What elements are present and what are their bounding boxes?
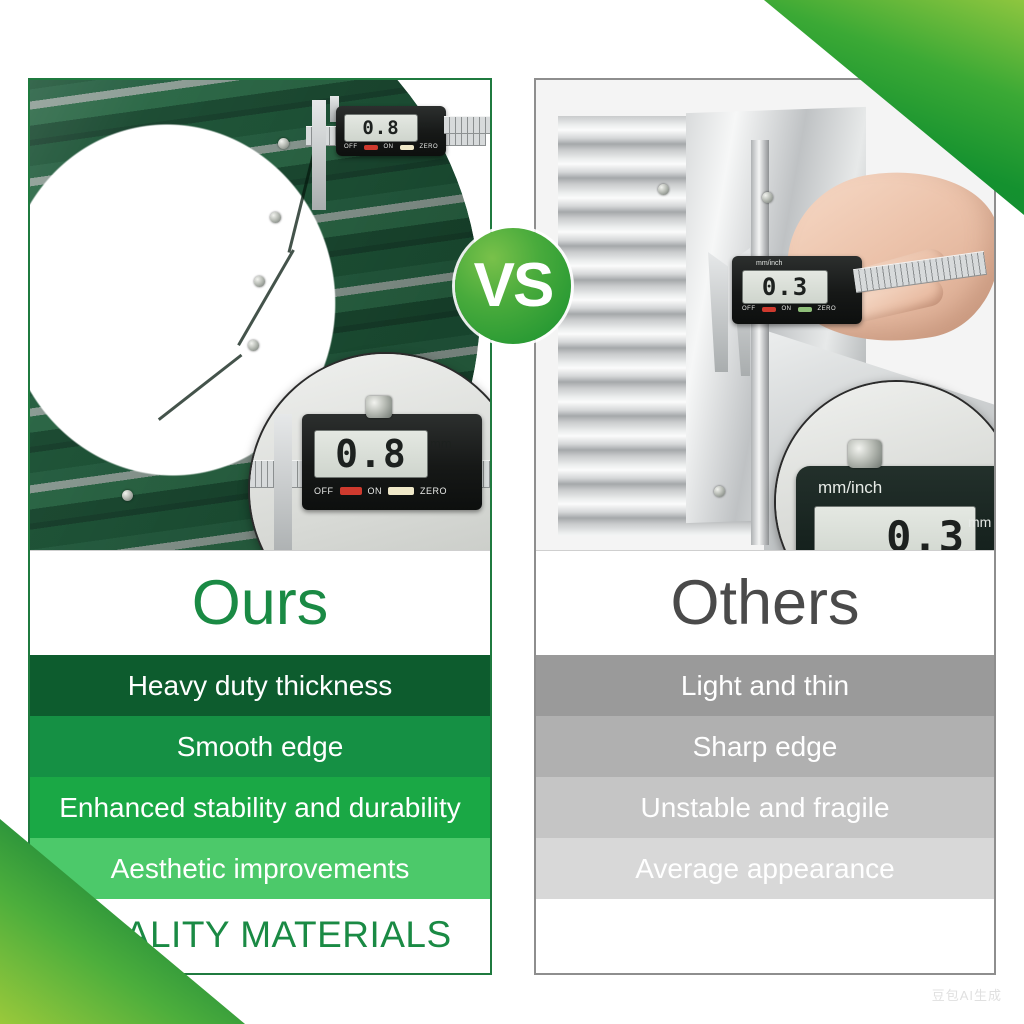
bubble-caliper-buttons: OFF ON ZERO [314, 486, 447, 496]
bolt [254, 276, 265, 287]
caliper-zero-label: ZERO [818, 306, 837, 312]
feature-rows-others: Light and thin Sharp edge Unstable and f… [536, 655, 994, 899]
bubble-thumbwheel [848, 440, 882, 468]
bubble-thumbwheel [366, 396, 392, 418]
caliper-display: 0.8 [344, 114, 418, 142]
panel-footer-others [536, 899, 994, 971]
comparison-infographic: 0.8 mm OFF ON ZERO [0, 0, 1024, 1024]
vs-badge: VS [455, 228, 571, 344]
photo-others: 0.3 mm/inch OFF ON ZERO mm/inch [536, 80, 994, 551]
bubble-on-label: ON [368, 486, 383, 496]
caliper-unit-label: mm [418, 120, 431, 129]
bubble-power-led [340, 487, 362, 495]
bubble-caliper-jaw [274, 414, 292, 551]
vs-badge-label: VS [474, 255, 553, 317]
caliper-jaw [312, 100, 326, 210]
bubble-zero-label: ZERO [420, 486, 447, 496]
power-led [762, 307, 776, 312]
bolt [270, 212, 281, 223]
caliper-off-label: OFF [742, 306, 756, 312]
bubble-caliper-display: 0.8 [314, 430, 428, 478]
bubble-caliper-brand: mm/inch [818, 478, 882, 498]
feature-row: Sharp edge [536, 716, 994, 777]
caliper-on-label: ON [782, 306, 792, 312]
bolt [248, 340, 259, 351]
bolt [658, 184, 669, 195]
caliper-buttons: OFF ON ZERO [344, 144, 438, 150]
feature-row-label: Unstable and fragile [640, 792, 889, 824]
feature-row-label: Enhanced stability and durability [59, 792, 461, 824]
bubble-caliper-body: 0.8 mm OFF ON ZERO [302, 414, 482, 510]
feature-row-label: Aesthetic improvements [111, 853, 410, 885]
power-led [364, 145, 378, 150]
bolt [714, 486, 725, 497]
caliper-body: 0.8 mm OFF ON ZERO [336, 106, 446, 156]
feature-row: Aesthetic improvements [30, 838, 490, 899]
caliper-off-label: OFF [344, 144, 358, 150]
panel-title-others: Others [536, 551, 994, 655]
bubble-caliper-unit: mm [968, 514, 991, 530]
feature-row-label: Light and thin [681, 670, 849, 702]
caliper-zero-label: ZERO [420, 144, 439, 150]
watermark: 豆包AI生成 [932, 985, 1002, 1004]
magnifier-bubble-ours: 0.8 mm OFF ON ZERO [248, 352, 490, 551]
galvanized-steel-image: 0.3 mm/inch OFF ON ZERO mm/inch [536, 80, 994, 550]
zero-led [798, 307, 812, 312]
caliper-scale-rail-right [444, 116, 490, 134]
feature-row-label: Sharp edge [693, 731, 838, 763]
bolt [278, 138, 289, 149]
bubble-caliper-unit: mm [430, 436, 452, 451]
bubble-caliper-display: 0.3 [814, 506, 976, 551]
feature-row: Average appearance [536, 838, 994, 899]
green-steel-ring-image: 0.8 mm OFF ON ZERO [30, 80, 490, 550]
caliper-display: 0.3 [742, 270, 828, 304]
panel-others: 0.3 mm/inch OFF ON ZERO mm/inch [534, 78, 996, 975]
panel-title-ours: Ours [30, 551, 490, 655]
photo-ours: 0.8 mm OFF ON ZERO [30, 80, 490, 551]
caliper-on-label: ON [384, 144, 394, 150]
feature-row: Light and thin [536, 655, 994, 716]
feature-rows-ours: Heavy duty thickness Smooth edge Enhance… [30, 655, 490, 899]
feature-row: Smooth edge [30, 716, 490, 777]
feature-row-label: Average appearance [635, 853, 894, 885]
bolt [122, 490, 133, 501]
panel-ours: 0.8 mm OFF ON ZERO [28, 78, 492, 975]
bubble-zero-led [388, 487, 414, 495]
bolt [762, 192, 773, 203]
feature-row: Unstable and fragile [536, 777, 994, 838]
caliper-brand-label: mm/inch [756, 260, 782, 267]
caliper-body: 0.3 mm/inch OFF ON ZERO [732, 256, 862, 324]
bubble-caliper-body: mm/inch 0.3 mm OFF ON ZERO [796, 466, 994, 551]
zero-led [400, 145, 414, 150]
caliper-buttons: OFF ON ZERO [742, 306, 836, 312]
feature-row-label: Smooth edge [177, 731, 344, 763]
feature-row: Enhanced stability and durability [30, 777, 490, 838]
magnifier-bubble-others: mm/inch 0.3 mm OFF ON ZERO [774, 380, 994, 551]
feature-row-label: Heavy duty thickness [128, 670, 393, 702]
bubble-off-label: OFF [314, 486, 334, 496]
feature-row: Heavy duty thickness [30, 655, 490, 716]
